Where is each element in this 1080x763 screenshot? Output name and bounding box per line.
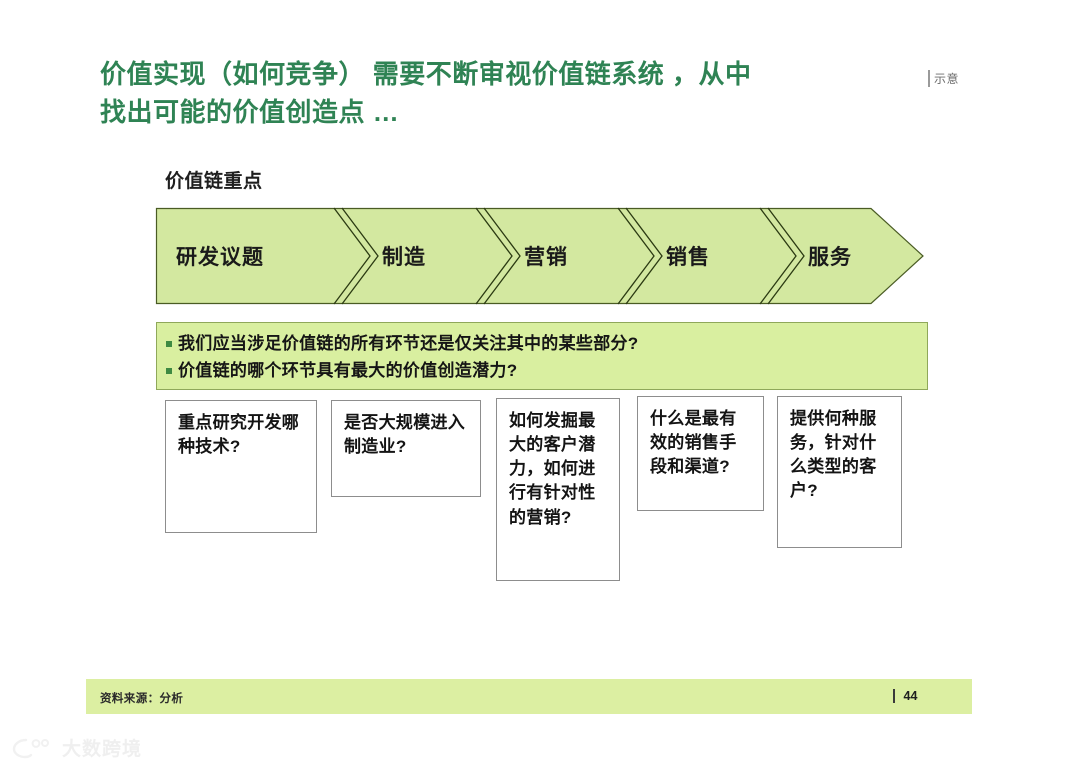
chain-body-shape: [157, 209, 924, 304]
bullet-square-icon: [166, 368, 172, 374]
question-card-service[interactable]: 提供何种服务，针对什么类型的客户?: [777, 396, 902, 548]
badge-divider-icon: [928, 70, 930, 87]
watermark: 大数跨境: [12, 734, 142, 761]
footer-bar: [86, 679, 972, 714]
brand-logo-icon: [12, 737, 54, 759]
watermark-text: 大数跨境: [62, 734, 142, 761]
page-title-line-2: 找出可能的价值创造点 …: [100, 93, 890, 131]
key-question-text-1: 我们应当涉足价值链的所有环节还是仅关注其中的某些部分?: [178, 332, 638, 356]
footer-page-number: 44: [893, 689, 917, 703]
key-question-item: 我们应当涉足价值链的所有环节还是仅关注其中的某些部分?: [166, 332, 927, 356]
bullet-square-icon: [166, 341, 172, 347]
question-card-manufacture[interactable]: 是否大规模进入制造业?: [331, 400, 481, 497]
question-card-sales[interactable]: 什么是最有效的销售手段和渠道?: [637, 396, 764, 511]
section-label: 价值链重点: [165, 166, 263, 193]
illustrative-badge-label: 示意: [934, 70, 959, 87]
question-card-marketing[interactable]: 如何发掘最大的客户潜力，如何进行有针对性的营销?: [496, 398, 620, 581]
footer-source-label: 资料来源：分析: [100, 690, 183, 706]
value-chain-svg: [156, 208, 924, 304]
logo-circle-2: [42, 740, 48, 746]
page-title-line-1: 价值实现（如何竞争） 需要不断审视价值链系统 ，从中: [100, 55, 890, 93]
key-questions-box: 我们应当涉足价值链的所有环节还是仅关注其中的某些部分? 价值链的哪个环节具有最大…: [156, 322, 928, 390]
key-question-item: 价值链的哪个环节具有最大的价值创造潜力?: [166, 359, 927, 383]
page-title: 价值实现（如何竞争） 需要不断审视价值链系统 ，从中 找出可能的价值创造点 …: [100, 55, 890, 132]
page-number-divider-icon: [893, 689, 895, 703]
question-card-rd[interactable]: 重点研究开发哪种技术?: [165, 400, 317, 533]
logo-arc: [14, 740, 31, 757]
key-question-text-2: 价值链的哪个环节具有最大的价值创造潜力?: [178, 359, 517, 383]
logo-circle-1: [33, 740, 40, 747]
value-chain-diagram: 研发议题 制造 营销 销售 服务: [156, 208, 924, 304]
page-number-value: 44: [904, 689, 918, 703]
illustrative-badge: 示意: [928, 70, 959, 87]
